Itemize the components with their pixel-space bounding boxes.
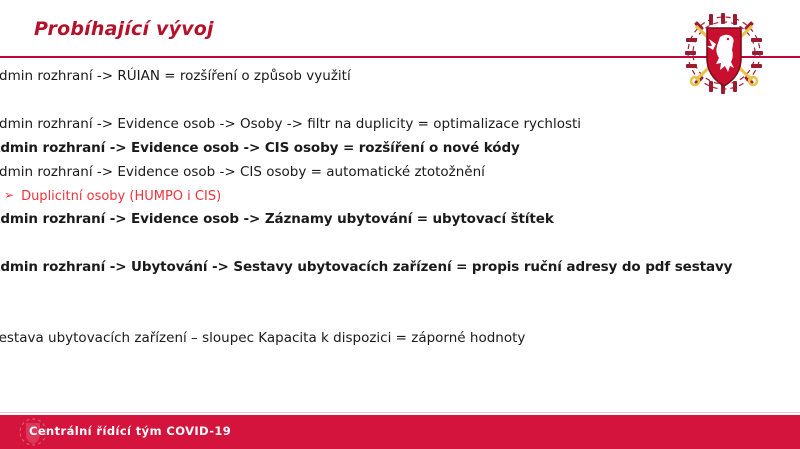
body-line-text: Admin rozhraní -> Evidence osob -> CIS o…: [0, 164, 485, 180]
body-line: Admin rozhraní -> Evidence osob -> CIS o…: [0, 140, 520, 156]
body-line: Admin rozhraní -> RÚIAN = rozšíření o zp…: [0, 68, 351, 84]
bullet-arrow-icon: ➢: [4, 187, 14, 203]
body-line: Sestava ubytovacích zařízení – sloupec K…: [0, 330, 525, 346]
body-line-text: Admin rozhraní -> Evidence osob -> Osoby…: [0, 116, 581, 132]
footer-title: Centrální řídící tým COVID-19: [29, 424, 231, 438]
body-line-text: Admin rozhraní -> Ubytování -> Sestavy u…: [0, 259, 732, 275]
body-line-text: Duplicitní osoby (HUMPO i CIS): [21, 189, 221, 204]
body-line: ➢Duplicitní osoby (HUMPO i CIS): [4, 188, 221, 205]
slide-body: Admin rozhraní -> RÚIAN = rozšíření o zp…: [0, 0, 800, 400]
slide-canvas: Probíhající vývoj: [0, 0, 800, 449]
footer-bar: Centrální řídící tým COVID-19 MINISTERST…: [0, 415, 800, 449]
body-line-text: Sestava ubytovacích zařízení – sloupec K…: [0, 330, 525, 346]
body-line: Admin rozhraní -> Evidence osob -> Osoby…: [0, 116, 581, 132]
body-line-text: Admin rozhraní -> RÚIAN = rozšíření o zp…: [0, 68, 351, 84]
body-line-text: Admin rozhraní -> Evidence osob -> CIS o…: [0, 140, 520, 156]
footer-divider: [0, 412, 800, 413]
body-line: Admin rozhraní -> Ubytování -> Sestavy u…: [0, 259, 732, 275]
body-line: Admin rozhraní -> Evidence osob -> Zázna…: [0, 211, 554, 227]
body-line-text: Admin rozhraní -> Evidence osob -> Zázna…: [0, 211, 554, 227]
body-line: Admin rozhraní -> Evidence osob -> CIS o…: [0, 164, 485, 180]
